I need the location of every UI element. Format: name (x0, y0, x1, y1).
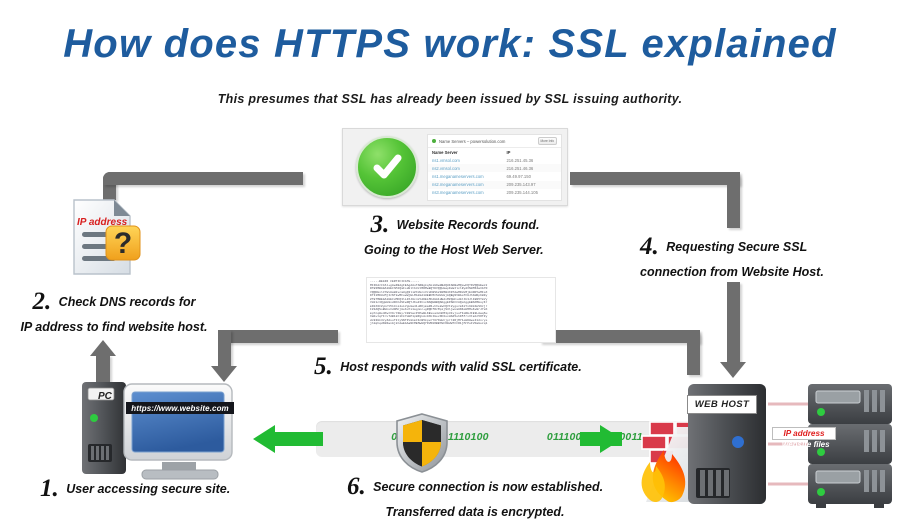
arrow-panel-down-shaft (218, 330, 231, 368)
dns-table: Name Server IP ns1.vmsol.com 216.251.45.… (428, 148, 561, 197)
arrow-data-to-client-shaft (275, 432, 323, 446)
arrow-host-to-client-horiz (540, 330, 700, 343)
url-text: https://www.website.com (131, 404, 229, 413)
step-6-number: 6. (347, 473, 366, 500)
step-4-caption: 4. Requesting Secure SSL connection from… (640, 230, 890, 281)
dns-panel-title: Name Servers – powersolution.com (439, 139, 505, 144)
col-ip: IP (502, 148, 561, 156)
step-2-line-2: IP address to find website host. (14, 319, 214, 336)
web-host-label-text: WEB HOST (695, 399, 749, 410)
arrow-data-to-host-head (600, 425, 622, 453)
cell-ip: 209.235.143.97 (502, 181, 561, 189)
web-host-server (620, 372, 896, 518)
doc-icon-label: IP address (77, 217, 127, 228)
cell-ip: 69.49.97.150 (502, 172, 561, 180)
cell-ip: 209.235.144.105 (502, 189, 561, 197)
more-info-button[interactable]: More Info (538, 137, 557, 145)
step-3-number: 3. (370, 211, 389, 238)
step-4-number: 4. (640, 233, 659, 260)
arrow-panel-to-host-shaft-top (727, 172, 740, 228)
page-subtitle: This presumes that SSL has already been … (0, 92, 900, 106)
arrow-host-to-client-shaft (687, 330, 700, 375)
page-title: How does HTTPS work: SSL explained (0, 22, 900, 67)
security-shield-icon (394, 412, 450, 474)
step-1-line-1: User accessing secure site. (66, 482, 230, 496)
table-row[interactable]: ns3.meganameservers.com 209.235.144.105 (428, 189, 561, 197)
server-ip-address-text: IP address (783, 429, 824, 438)
step-5-line-1: Host responds with valid SSL certificate… (340, 360, 582, 374)
cell-name-server: ns2.meganameservers.com (428, 181, 502, 189)
step-6-line-2: Transferred data is encrypted. (330, 504, 620, 521)
web-host-label: WEB HOST (687, 395, 757, 414)
cell-name-server: ns1.vmsol.com (428, 156, 502, 164)
table-row[interactable]: ns1.meganameservers.com 69.49.97.150 (428, 172, 561, 180)
browser-url-bar[interactable]: https://www.website.com (126, 402, 234, 414)
dns-lookup-panel[interactable]: Name Servers – powersolution.com More In… (342, 128, 568, 206)
svg-text:?: ? (114, 227, 132, 260)
certificate-body: MIIDdzCCAl+gAwIBAgIEAgAAuTANBgkqhkiG9w0B… (370, 284, 552, 326)
table-row[interactable]: ns2.meganameservers.com 209.235.143.97 (428, 181, 561, 189)
dns-table-head-row: Name Server IP (428, 148, 561, 156)
step-2-number: 2. (32, 288, 51, 315)
cell-name-server: ns1.meganameservers.com (428, 172, 502, 180)
col-name-server: Name Server (428, 148, 502, 156)
cell-name-server: ns2.vmsol.com (428, 164, 502, 172)
step-2-line-1: Check DNS records for (59, 295, 196, 309)
green-check-icon (351, 136, 423, 198)
server-ip-address-label: IP address (772, 427, 836, 440)
arrow-panel-to-host-shaft-bottom (727, 282, 740, 364)
step-6-caption: 6. Secure connection is now established.… (330, 470, 620, 521)
ssl-certificate-block: -----BEGIN CERTIFICATE----- MIIDdzCCAl+g… (366, 277, 556, 343)
step-1-caption: 1. User accessing secure site. (40, 472, 230, 506)
step-4-line-1: Requesting Secure SSL (666, 240, 807, 254)
step-5-number: 5. (314, 353, 333, 380)
step-5-caption: 5. Host responds with valid SSL certific… (314, 350, 582, 384)
pc-tower-label: PC (98, 391, 112, 402)
dns-records-table: Name Servers – powersolution.com More In… (427, 134, 562, 201)
step-3-line-2: Going to the Host Web Server. (340, 242, 570, 259)
arrow-dns-to-panel-horiz (103, 172, 303, 185)
arrow-data-to-client-head (253, 425, 275, 453)
website-files-label: website files (782, 440, 830, 449)
step-1-number: 1. (40, 475, 59, 502)
dns-table-header: Name Servers – powersolution.com More In… (428, 135, 561, 148)
dns-record-question-icon: ? IP address (70, 196, 144, 282)
arrow-panel-down-horiz (218, 330, 338, 343)
status-dot-icon (432, 139, 436, 143)
cell-ip: 216.251.45.36 (502, 156, 561, 164)
step-6-line-1: Secure connection is now established. (373, 480, 603, 494)
diagram-canvas: How does HTTPS work: SSL explained This … (0, 0, 900, 518)
step-4-line-2: connection from Website Host. (640, 264, 890, 281)
arrow-pc-to-dns-head (90, 340, 116, 356)
table-row[interactable]: ns1.vmsol.com 216.251.45.36 (428, 156, 561, 164)
step-3-line-1: Website Records found. (397, 218, 540, 232)
step-2-caption: 2. Check DNS records for IP address to f… (14, 285, 214, 336)
cell-ip: 216.251.46.36 (502, 164, 561, 172)
table-row[interactable]: ns2.vmsol.com 216.251.46.36 (428, 164, 561, 172)
arrow-panel-to-host-horiz (570, 172, 740, 185)
step-3-caption: 3. Website Records found. Going to the H… (340, 208, 570, 259)
cell-name-server: ns3.meganameservers.com (428, 189, 502, 197)
